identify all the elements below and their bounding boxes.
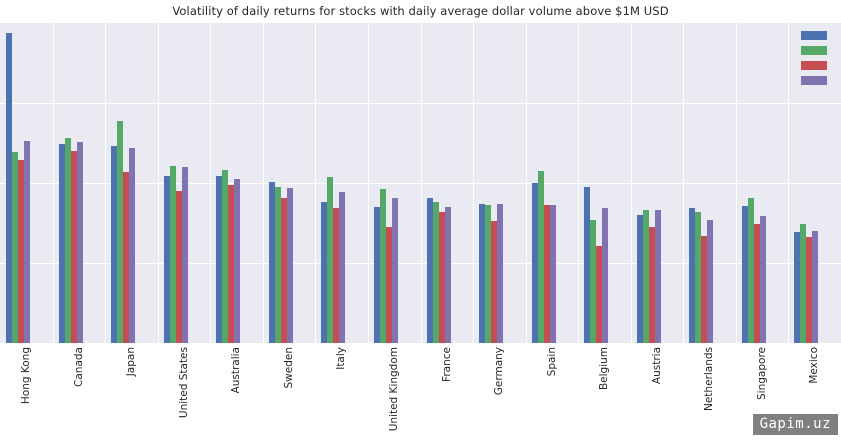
bar[interactable] — [707, 220, 713, 343]
page-title: Volatility of daily returns for stocks w… — [0, 4, 841, 18]
x-tick-label: Italy — [335, 347, 347, 370]
bar-group — [427, 22, 451, 343]
x-tick-label: Japan — [125, 347, 137, 376]
bar[interactable] — [812, 231, 818, 343]
bar[interactable] — [129, 148, 135, 343]
gridline-vertical-12 — [631, 22, 632, 343]
x-tick-label: Singapore — [756, 347, 768, 400]
bar-group — [321, 22, 345, 343]
gridline-vertical-4 — [210, 22, 211, 343]
bar[interactable] — [550, 205, 556, 343]
bar[interactable] — [234, 179, 240, 343]
bar-group — [689, 22, 713, 343]
bar-group — [111, 22, 135, 343]
bar[interactable] — [392, 198, 398, 343]
watermark: Gapim.uz — [753, 414, 838, 435]
bar[interactable] — [497, 204, 503, 343]
x-tick-label: Netherlands — [703, 347, 715, 411]
gridline-vertical-9 — [473, 22, 474, 343]
x-tick-label: Belgium — [598, 347, 610, 390]
gridline-vertical-6 — [315, 22, 316, 343]
legend-color-swatch — [801, 76, 827, 85]
gridline-vertical-7 — [368, 22, 369, 343]
legend-item[interactable] — [791, 73, 837, 88]
gridline-vertical-8 — [421, 22, 422, 343]
bar[interactable] — [339, 192, 345, 343]
x-tick-label: Sweden — [283, 347, 295, 389]
bar-group — [637, 22, 661, 343]
gridline-vertical-10 — [526, 22, 527, 343]
bar-group — [532, 22, 556, 343]
bar-group — [59, 22, 83, 343]
x-tick-label: France — [441, 347, 453, 382]
x-tick-label: Germany — [493, 347, 505, 395]
bar-group — [374, 22, 398, 343]
bar-group — [269, 22, 293, 343]
bar[interactable] — [602, 208, 608, 343]
chart-figure: Volatility of daily returns for stocks w… — [0, 0, 841, 443]
bar-group — [479, 22, 503, 343]
x-tick-label: United Kingdom — [388, 347, 400, 431]
bar-group — [6, 22, 30, 343]
bar[interactable] — [287, 188, 293, 343]
gridline-vertical-11 — [578, 22, 579, 343]
legend-color-swatch — [801, 61, 827, 70]
x-tick-label: Spain — [546, 347, 558, 376]
gridline-vertical-1 — [53, 22, 54, 343]
x-tick-label: Mexico — [808, 347, 820, 384]
bar[interactable] — [655, 210, 661, 343]
legend-item[interactable] — [791, 58, 837, 73]
gridline-vertical-2 — [105, 22, 106, 343]
gridline-vertical-13 — [683, 22, 684, 343]
bar[interactable] — [760, 216, 766, 343]
x-tick-label: Canada — [73, 347, 85, 387]
legend-item[interactable] — [791, 28, 837, 43]
legend-color-swatch — [801, 31, 827, 40]
legend-item[interactable] — [791, 43, 837, 58]
gridline-vertical-5 — [263, 22, 264, 343]
bar[interactable] — [445, 207, 451, 343]
gridline-vertical-14 — [736, 22, 737, 343]
bar-group — [216, 22, 240, 343]
x-tick-label: Hong Kong — [20, 347, 32, 404]
legend-color-swatch — [801, 46, 827, 55]
x-tick-label: Australia — [230, 347, 242, 393]
x-tick-label: Austria — [651, 347, 663, 384]
x-axis-tick-labels: Hong KongCanadaJapanUnited StatesAustral… — [0, 343, 841, 443]
bar[interactable] — [24, 141, 30, 343]
bar-group — [742, 22, 766, 343]
plot-area — [0, 22, 841, 343]
x-tick-label: United States — [178, 347, 190, 418]
chart-legend — [791, 26, 837, 90]
bar[interactable] — [77, 142, 83, 343]
gridline-vertical-15 — [788, 22, 789, 343]
bar-group — [164, 22, 188, 343]
gridline-vertical-3 — [158, 22, 159, 343]
bar-group — [584, 22, 608, 343]
bar[interactable] — [182, 167, 188, 343]
